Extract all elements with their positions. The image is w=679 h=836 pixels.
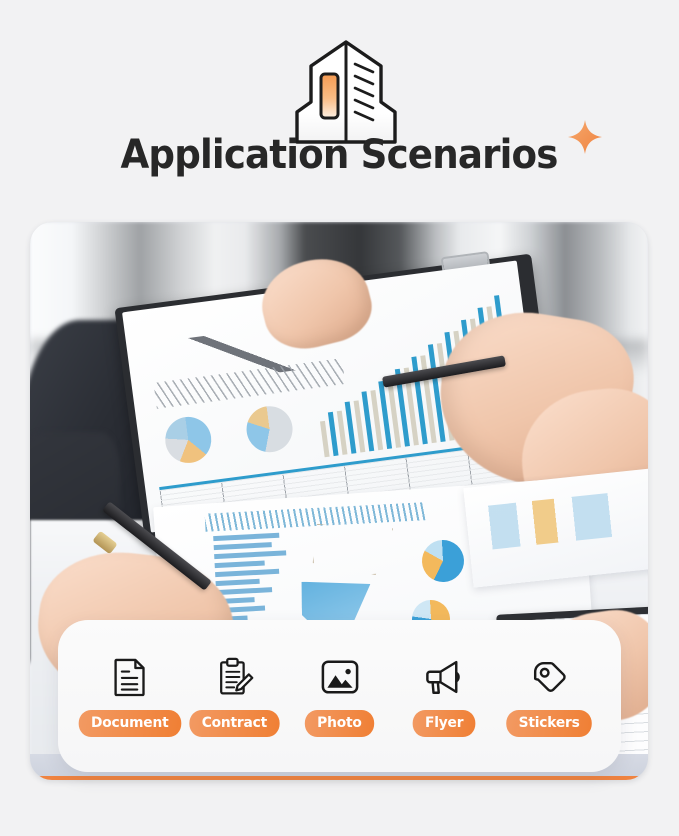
- building-icon: [291, 36, 401, 144]
- card-accent-bar: [30, 776, 648, 780]
- feature-item-stickers[interactable]: Stickers: [499, 655, 599, 737]
- feature-item-flyer[interactable]: Flyer: [394, 655, 494, 737]
- feature-item-contract[interactable]: Contract: [185, 655, 285, 737]
- feature-label-stickers: Stickers: [506, 710, 592, 737]
- clipboard-pencil-icon: [216, 655, 254, 699]
- tag-icon: [530, 655, 568, 699]
- report-pie-chart-2: [244, 403, 296, 455]
- feature-label-flyer: Flyer: [413, 710, 476, 737]
- feature-label-contract: Contract: [190, 710, 280, 737]
- image-icon: [320, 655, 360, 699]
- page-title: Application Scenarios: [121, 131, 558, 179]
- report-pie-chart-1: [162, 414, 214, 466]
- feature-label-photo: Photo: [305, 710, 374, 737]
- feature-label-document: Document: [79, 710, 181, 737]
- sparkle-icon: [566, 118, 604, 156]
- megaphone-icon: [423, 655, 465, 699]
- feature-card: Document Contract: [58, 620, 621, 772]
- header: Application Scenarios: [0, 0, 679, 210]
- feature-item-document[interactable]: Document: [80, 655, 180, 737]
- feature-item-photo[interactable]: Photo: [290, 655, 390, 737]
- document-icon: [112, 655, 148, 699]
